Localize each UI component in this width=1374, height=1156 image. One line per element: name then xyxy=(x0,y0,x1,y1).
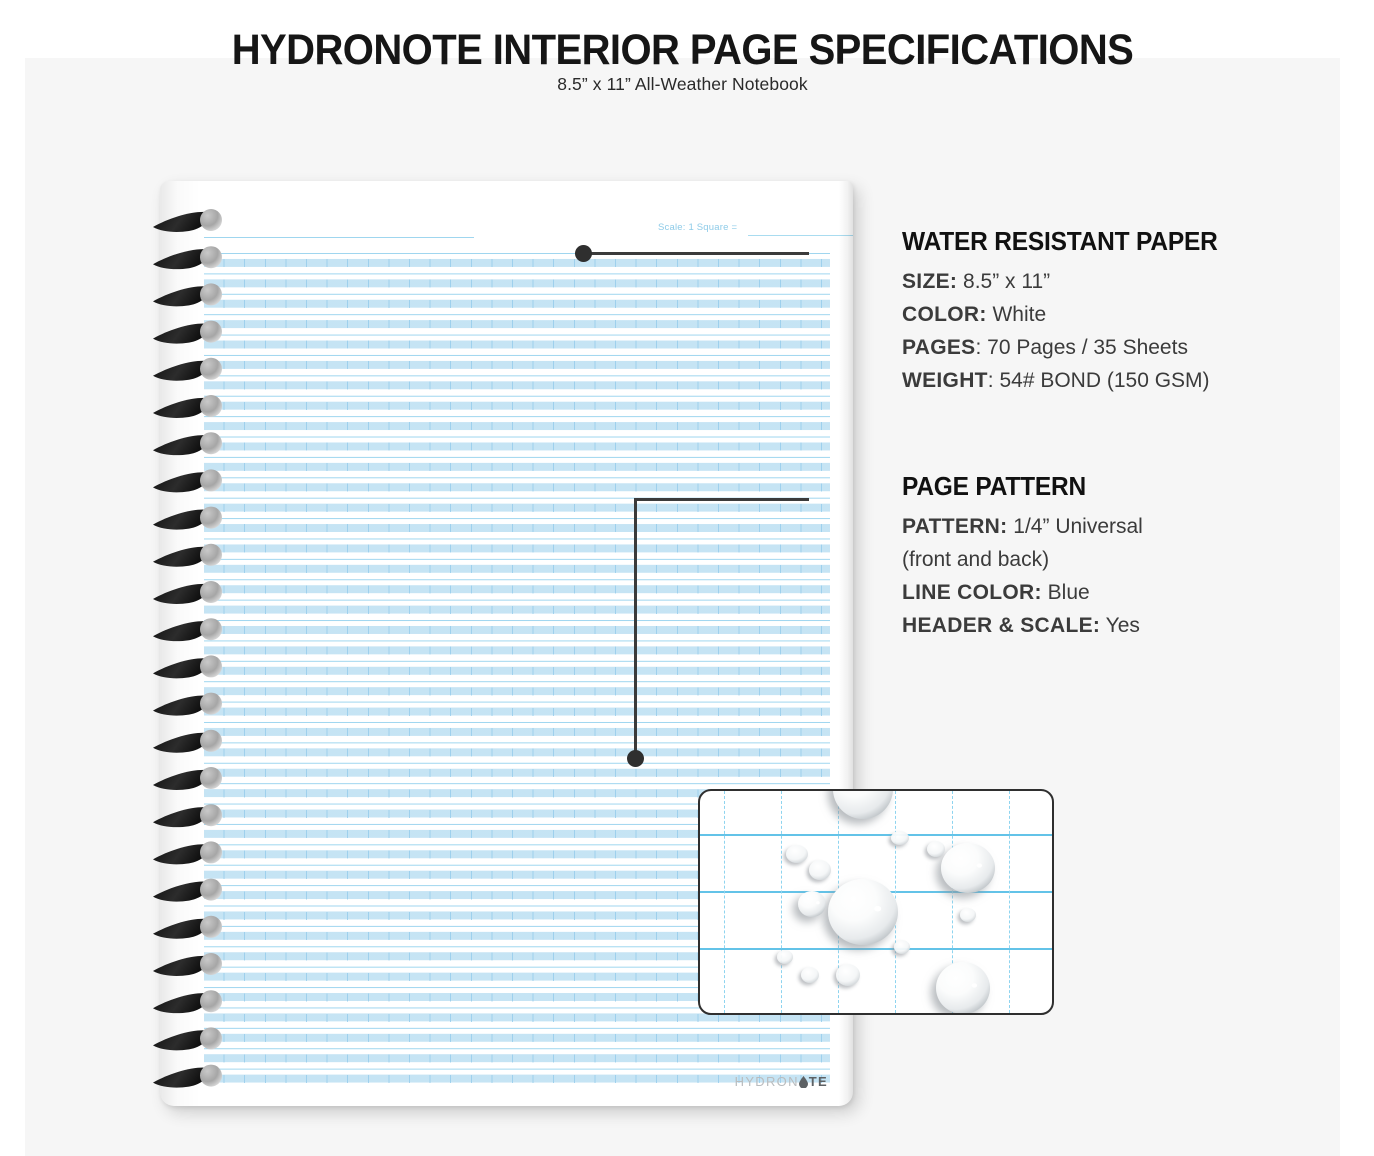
spiral-hole xyxy=(200,618,222,640)
logo-text-note: TE xyxy=(809,1074,828,1089)
logo-text-hydro: HYDRON xyxy=(735,1074,799,1089)
spiral-hole xyxy=(200,1065,222,1087)
water-droplets xyxy=(700,791,1052,1013)
spec-label: SIZE: xyxy=(902,270,957,293)
spiral-hole xyxy=(200,693,222,715)
hydronote-logo: HYDRONTE xyxy=(735,1074,828,1089)
spiral-hole xyxy=(200,432,222,454)
spiral-hole xyxy=(200,283,222,305)
spiral-hole xyxy=(200,730,222,752)
callout-heading: PAGE PATTERN xyxy=(902,473,1133,502)
spiral-hole xyxy=(200,841,222,863)
spiral-hole xyxy=(200,507,222,529)
water-droplet xyxy=(809,860,831,880)
page-subtitle: 8.5” x 11” All-Weather Notebook xyxy=(25,74,1340,95)
spec-value: : 70 Pages / 35 Sheets xyxy=(975,336,1187,359)
spiral-hole xyxy=(200,1027,222,1049)
spiral-hole xyxy=(200,581,222,603)
spiral-binding xyxy=(143,209,233,1099)
spec-row-header-scale: HEADER & SCALE: Yes xyxy=(902,610,1143,643)
droplet-highlight xyxy=(816,901,820,904)
water-droplet xyxy=(836,964,860,986)
droplet-highlight xyxy=(977,863,982,867)
spiral-hole xyxy=(200,358,222,380)
water-droplet xyxy=(777,950,793,964)
callout-water-resistant-paper: WATER RESISTANT PAPER SIZE: 8.5” x 11” C… xyxy=(902,228,1231,398)
spiral-hole xyxy=(200,655,222,677)
water-droplet xyxy=(936,962,990,1013)
spec-value: Yes xyxy=(1106,614,1140,637)
spec-label: COLOR: xyxy=(902,303,987,326)
droplet-highlight xyxy=(874,906,881,912)
water-droplet xyxy=(960,908,976,922)
spiral-hole xyxy=(200,953,222,975)
water-drop-icon xyxy=(799,1076,808,1088)
spec-label: WEIGHT xyxy=(902,369,988,392)
spec-value: 8.5” x 11” xyxy=(963,270,1050,293)
scale-write-line xyxy=(748,235,853,236)
spec-row-color: COLOR: White xyxy=(902,299,1231,332)
spec-label: PAGES xyxy=(902,336,975,359)
droplet-highlight xyxy=(972,983,977,987)
spec-row-pattern: PATTERN: 1/4” Universal xyxy=(902,511,1143,544)
water-droplet xyxy=(833,791,893,819)
page-title-write-line xyxy=(204,237,474,238)
scale-label: Scale: 1 Square = xyxy=(658,222,737,233)
leader-dot-pattern xyxy=(627,750,644,767)
spec-value: White xyxy=(992,303,1046,326)
leader-dot-paper xyxy=(575,245,592,262)
spiral-hole xyxy=(200,990,222,1012)
spec-row-size: SIZE: 8.5” x 11” xyxy=(902,266,1231,299)
spiral-hole xyxy=(200,879,222,901)
infographic-canvas: HYDRONOTE INTERIOR PAGE SPECIFICATIONS 8… xyxy=(25,58,1340,1156)
leader-line-paper xyxy=(581,252,809,255)
spec-row-weight: WEIGHT: 54# BOND (150 GSM) xyxy=(902,365,1231,398)
water-droplet xyxy=(941,843,995,893)
water-droplet xyxy=(891,831,909,845)
water-droplet xyxy=(927,841,945,857)
spec-value: 1/4” Universal xyxy=(1013,515,1143,538)
spiral-hole xyxy=(200,469,222,491)
spiral-hole xyxy=(200,246,222,268)
water-droplet xyxy=(894,940,910,954)
callout-page-pattern: PAGE PATTERN PATTERN: 1/4” Universal (fr… xyxy=(902,473,1143,643)
spec-row-pages: PAGES: 70 Pages / 35 Sheets xyxy=(902,332,1231,365)
zoom-detail-panel xyxy=(698,789,1054,1015)
spiral-hole xyxy=(200,395,222,417)
water-droplet xyxy=(801,967,819,983)
water-droplet xyxy=(798,891,826,917)
spec-value: : 54# BOND (150 GSM) xyxy=(988,369,1210,392)
spiral-hole xyxy=(200,321,222,343)
spec-label: PATTERN: xyxy=(902,515,1007,538)
spiral-hole xyxy=(200,209,222,231)
spiral-hole xyxy=(200,767,222,789)
spiral-hole xyxy=(200,544,222,566)
spiral-hole xyxy=(200,804,222,826)
page-title: HYDRONOTE INTERIOR PAGE SPECIFICATIONS xyxy=(71,26,1294,75)
spec-value: Blue xyxy=(1048,581,1090,604)
spiral-hole xyxy=(200,916,222,938)
spec-label: HEADER & SCALE: xyxy=(902,614,1100,637)
water-droplet xyxy=(786,845,808,863)
callout-heading: WATER RESISTANT PAPER xyxy=(902,228,1218,257)
leader-line-pattern-horizontal xyxy=(634,498,809,501)
water-droplet xyxy=(828,879,898,945)
spec-row-pattern-continued: (front and back) xyxy=(902,544,1143,577)
spec-row-line-color: LINE COLOR: Blue xyxy=(902,577,1143,610)
leader-line-pattern-vertical xyxy=(634,498,637,759)
spec-label: LINE COLOR: xyxy=(902,581,1042,604)
